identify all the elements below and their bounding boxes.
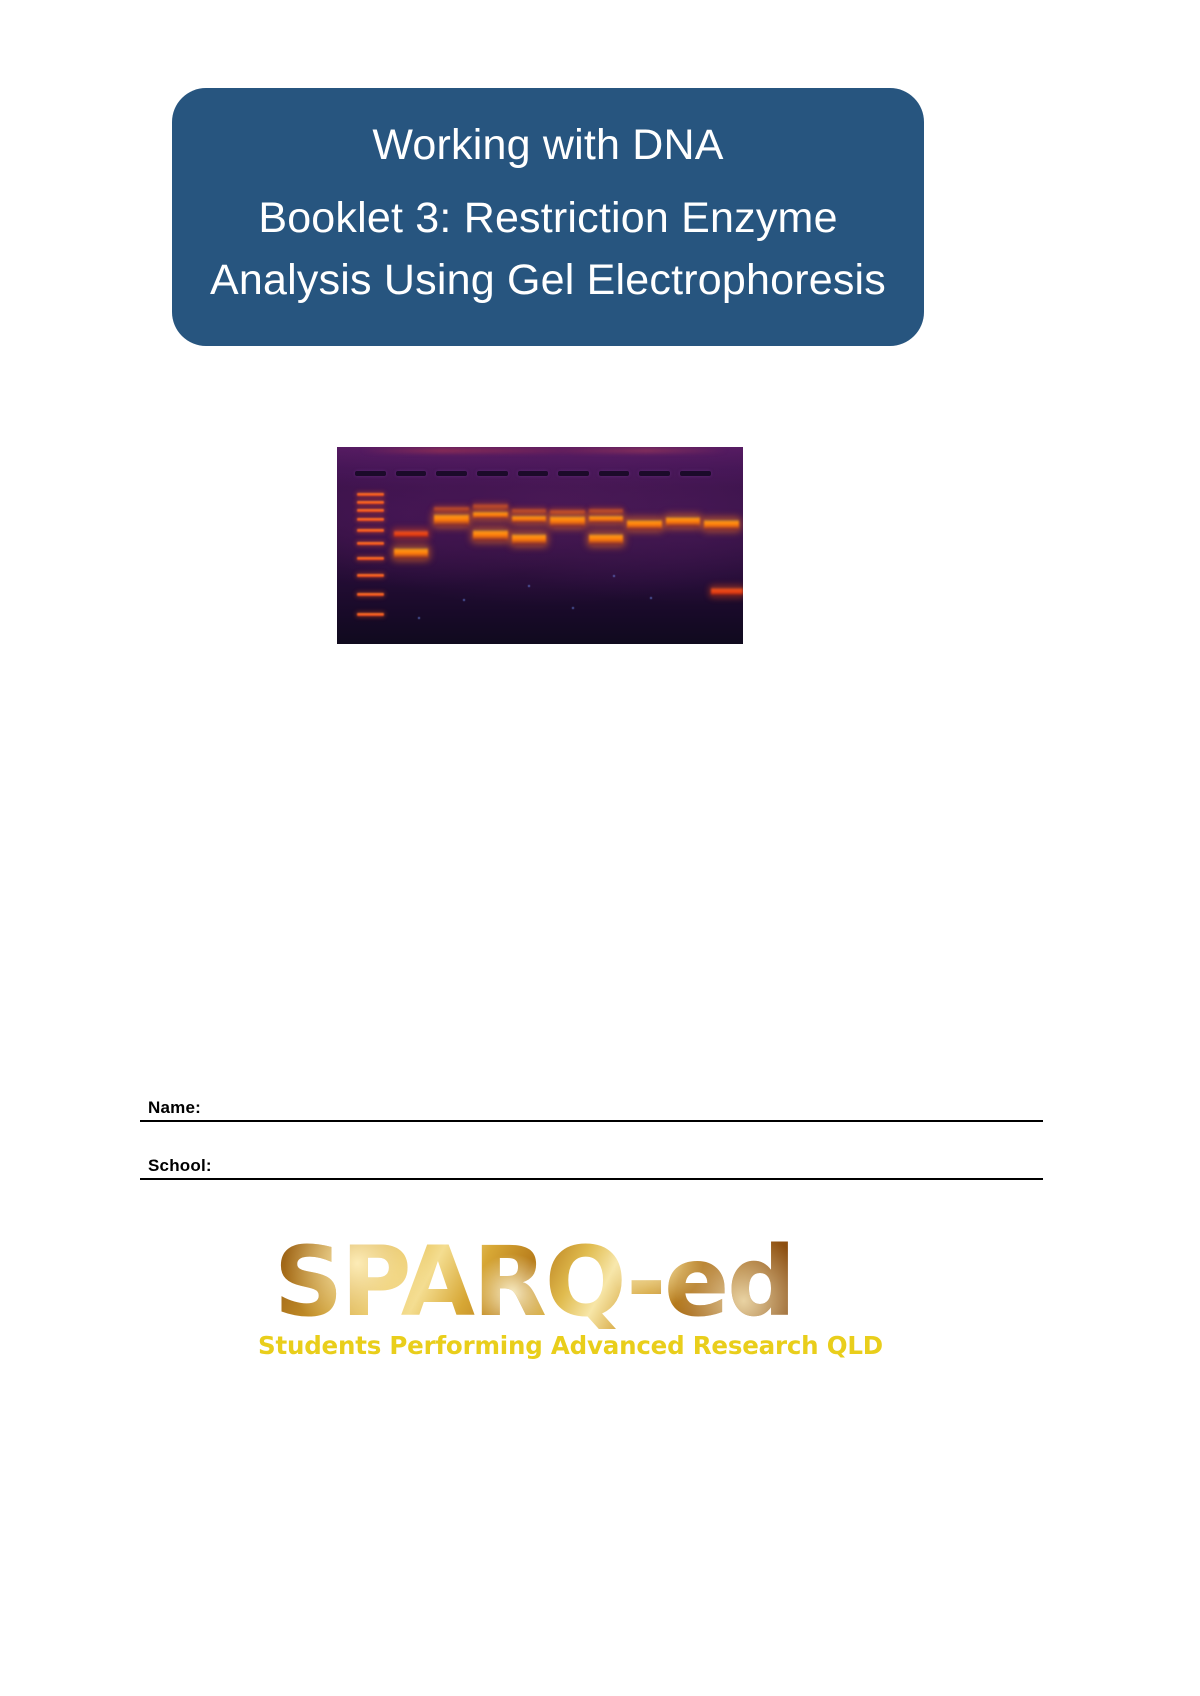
gel-well	[680, 471, 710, 476]
gel-ladder-rung	[357, 613, 383, 616]
school-field-label: School:	[140, 1155, 1043, 1177]
gel-band	[589, 508, 624, 514]
gel-well	[639, 471, 669, 476]
gel-band	[550, 515, 585, 527]
title-line-3: Analysis Using Gel Electrophoresis	[210, 249, 886, 311]
gel-band	[711, 587, 743, 596]
sparq-ed-tagline: Students Performing Advanced Research QL…	[258, 1331, 810, 1360]
gel-ladder-rung	[357, 501, 383, 504]
school-field-rule[interactable]	[140, 1178, 1043, 1180]
gel-well	[558, 471, 588, 476]
gel-ladder-rung	[357, 557, 383, 560]
gel-electrophoresis-image	[337, 447, 743, 644]
gel-band	[627, 519, 662, 530]
gel-band	[704, 519, 739, 530]
gel-band	[394, 547, 429, 559]
gel-band	[512, 515, 547, 523]
gel-ladder-rung	[357, 509, 383, 512]
gel-band	[394, 530, 429, 538]
sparq-ed-logo: SPARQ-ed Students Performing Advanced Re…	[258, 1235, 810, 1360]
gel-ladder-rung	[357, 493, 383, 496]
gel-speckle	[418, 617, 420, 619]
gel-ladder-rung	[357, 593, 383, 596]
gel-well	[477, 471, 507, 476]
gel-well	[518, 471, 548, 476]
gel-well	[599, 471, 629, 476]
gel-speckle	[613, 575, 615, 577]
gel-speckle	[650, 597, 652, 599]
gel-well	[396, 471, 426, 476]
sparq-ed-wordmark: SPARQ-ed	[258, 1235, 810, 1329]
gel-speckle	[572, 607, 574, 609]
gel-ladder-rung	[357, 529, 383, 532]
gel-band	[473, 503, 508, 510]
gel-band	[434, 506, 469, 512]
gel-electrophoresis-figure	[337, 447, 743, 644]
gel-band	[512, 533, 547, 545]
gel-top-glow	[361, 448, 726, 453]
title-banner: Working with DNA Booklet 3: Restriction …	[172, 88, 924, 346]
name-field-label: Name:	[140, 1097, 1043, 1119]
gel-band	[589, 515, 624, 523]
gel-band	[434, 513, 469, 526]
gel-ladder-rung	[357, 518, 383, 521]
name-field-row: Name:	[140, 1097, 1043, 1122]
gel-band	[473, 529, 508, 541]
gel-band	[512, 508, 547, 514]
cover-page: Working with DNA Booklet 3: Restriction …	[0, 0, 1200, 1696]
gel-ladder-rung	[357, 542, 383, 545]
gel-uv-haze	[337, 447, 743, 487]
gel-band	[666, 516, 701, 527]
gel-band	[589, 533, 624, 545]
gel-ladder-rung	[357, 574, 383, 577]
title-line-2: Booklet 3: Restriction Enzyme	[258, 187, 837, 249]
name-field-rule[interactable]	[140, 1120, 1043, 1122]
school-field-row: School:	[140, 1155, 1043, 1180]
gel-band	[473, 511, 508, 519]
gel-well	[436, 471, 466, 476]
gel-speckle	[528, 585, 530, 587]
gel-well	[355, 471, 385, 476]
gel-speckle	[463, 599, 465, 601]
title-line-1: Working with DNA	[372, 114, 723, 176]
